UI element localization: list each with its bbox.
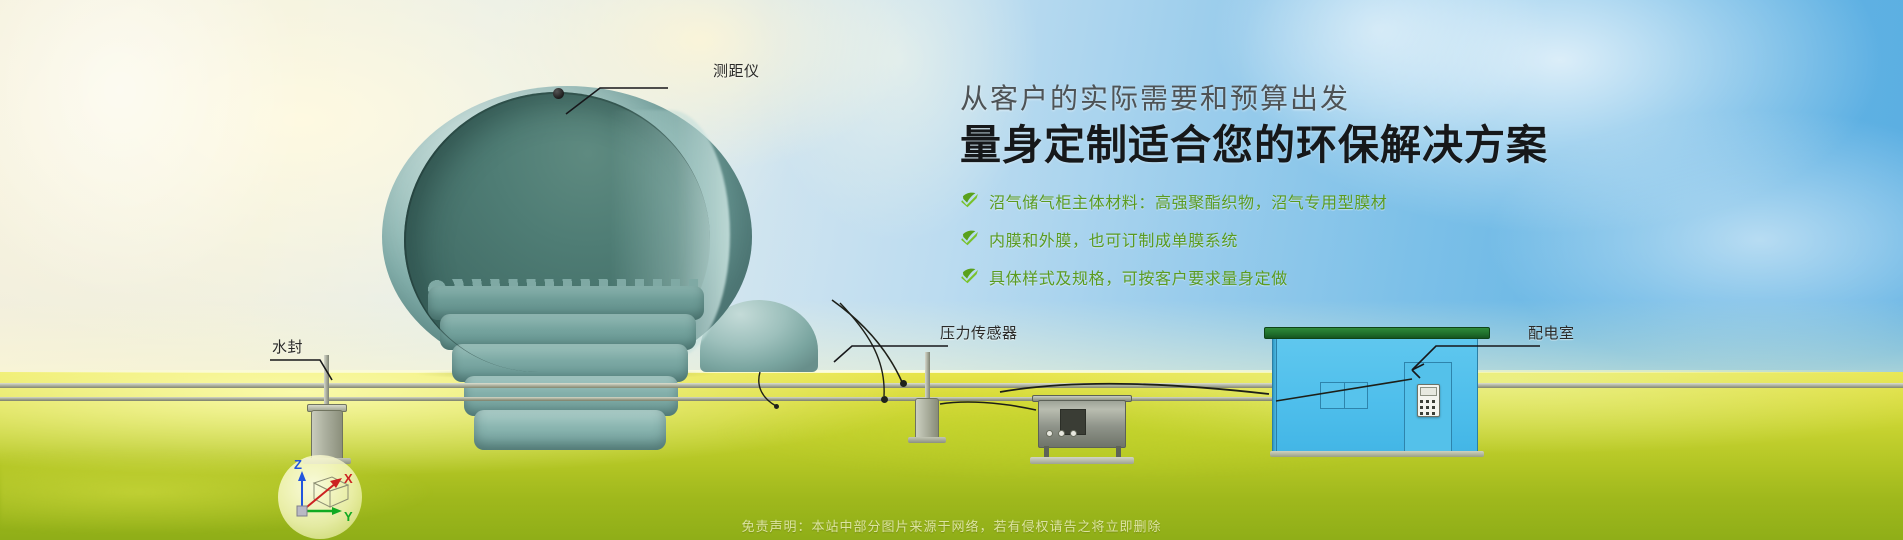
membrane-terrace-5 (474, 410, 666, 450)
pressure-sensor-base (908, 437, 946, 443)
footer-disclaimer: 免责声明：本站中部分图片来源于网络，若有侵权请告之将立即删除 (0, 516, 1903, 535)
list-item: 具体样式及规格，可按客户要求量身定做 (960, 265, 1680, 289)
list-item: 内膜和外膜，也可订制成单膜系统 (960, 227, 1680, 251)
callout-leader-rangefinder (560, 78, 670, 128)
gizmo-axis-z (298, 471, 306, 511)
list-item-label: 具体样式及规格，可按客户要求量身定做 (989, 265, 1288, 289)
list-item-label: 内膜和外膜，也可订制成单膜系统 (989, 227, 1238, 251)
callout-label-pressure-sensor: 压力传感器 (940, 322, 1018, 343)
banner-stage: 测距仪 水封 压力传感器 配电室 从客户的实际需要和预算出发 量身定制适合您的环… (0, 0, 1903, 540)
callout-leader-power-room (1410, 340, 1540, 410)
feature-bullet-list: 沼气储气柜主体材料：高强聚酯织物，沼气专用型膜材 内膜和外膜，也可订制成单膜系统 (960, 189, 1680, 289)
check-badge-icon (960, 191, 980, 211)
building-window-mullion (1344, 382, 1345, 409)
pressure-sensor-vessel (915, 398, 939, 440)
gas-pipeline-secondary (0, 397, 1350, 401)
skid-gauge-3 (1070, 430, 1077, 437)
marketing-copy: 从客户的实际需要和预算出发 量身定制适合您的环保解决方案 沼气储气柜主体材料：高… (960, 82, 1680, 303)
gizmo-axis-y (302, 507, 342, 515)
building-roof (1264, 327, 1490, 339)
callout-leader-pressure-sensor (830, 340, 950, 400)
skid-concrete-pad (1030, 457, 1134, 464)
skid-gauge-1 (1046, 430, 1053, 437)
gizmo-label-z: Z (294, 457, 302, 472)
building-foundation (1270, 451, 1484, 457)
skid-gauge-2 (1058, 430, 1065, 437)
double-membrane-gas-holder (382, 86, 752, 376)
callout-leader-water-seal (270, 354, 360, 424)
gizmo-origin-handle (297, 506, 307, 516)
check-badge-icon (960, 267, 980, 287)
control-panel-buttons-row-3 (1420, 412, 1437, 415)
headline-subtitle: 从客户的实际需要和预算出发 (960, 82, 1680, 116)
headline-main: 量身定制适合您的环保解决方案 (960, 122, 1680, 169)
list-item-label: 沼气储气柜主体材料：高强聚酯织物，沼气专用型膜材 (989, 189, 1387, 213)
gizmo-axis-x (302, 478, 342, 511)
list-item: 沼气储气柜主体材料：高强聚酯织物，沼气专用型膜材 (960, 189, 1680, 213)
pipe-junction-dot-c (774, 404, 779, 409)
callout-label-rangefinder: 测距仪 (713, 60, 760, 81)
check-badge-icon (960, 229, 980, 249)
gizmo-label-x: X (344, 471, 353, 486)
